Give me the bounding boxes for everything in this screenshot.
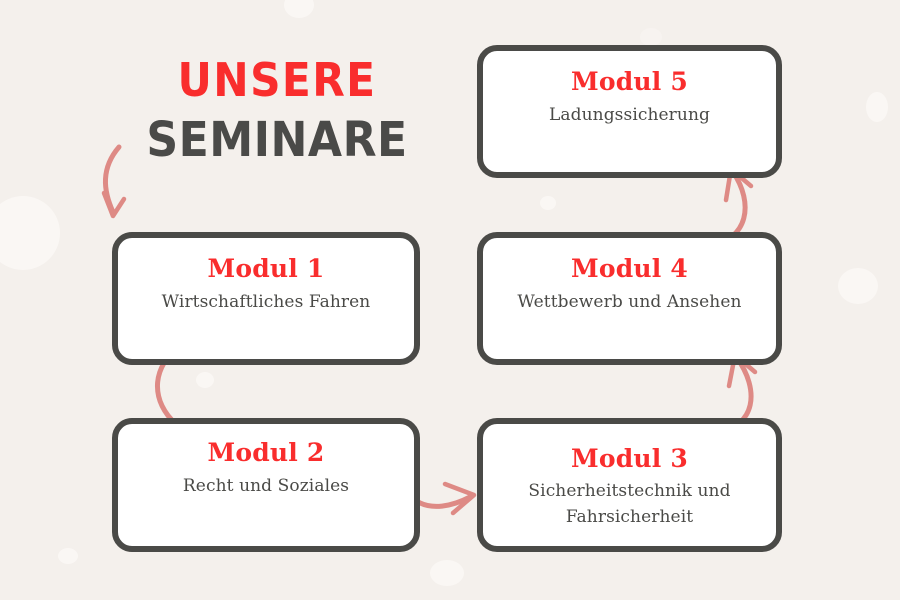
page-title-line-1: UNSERE	[125, 50, 429, 110]
module-card-modul-1[interactable]: Modul 1 Wirtschaftliches Fahren	[112, 232, 420, 365]
background-blotch	[866, 92, 888, 122]
module-title: Modul 5	[483, 67, 776, 97]
module-subtitle-line-1: Sicherheitstechnik und	[497, 478, 762, 504]
module-card-modul-2[interactable]: Modul 2 Recht und Soziales	[112, 418, 420, 552]
module-subtitle: Wirtschaftliches Fahren	[118, 290, 414, 315]
module-title: Modul 4	[483, 254, 776, 284]
module-title: Modul 2	[118, 438, 414, 468]
background-blotch	[58, 548, 78, 564]
background-blotch	[196, 372, 214, 388]
module-subtitle-line-2: Fahrsicherheit	[497, 504, 762, 530]
background-blotch	[430, 560, 464, 586]
module-title: Modul 3	[483, 444, 776, 474]
module-card-modul-3[interactable]: Modul 3 Sicherheitstechnik und Fahrsiche…	[477, 418, 782, 552]
module-title: Modul 1	[118, 254, 414, 284]
background-blotch	[0, 196, 60, 270]
background-blotch	[540, 196, 556, 210]
module-card-modul-5[interactable]: Modul 5 Ladungssicherung	[477, 45, 782, 178]
infographic-canvas: UNSERE SEMINARE	[0, 0, 900, 600]
module-subtitle: Recht und Soziales	[118, 474, 414, 499]
module-subtitle: Wettbewerb und Ansehen	[483, 290, 776, 315]
background-blotch	[284, 0, 314, 18]
module-card-modul-4[interactable]: Modul 4 Wettbewerb und Ansehen	[477, 232, 782, 365]
background-blotch	[838, 268, 878, 304]
background-blotch	[640, 28, 662, 46]
page-title: UNSERE SEMINARE	[112, 50, 442, 170]
module-subtitle: Sicherheitstechnik und Fahrsicherheit	[483, 478, 776, 530]
module-subtitle: Ladungssicherung	[483, 103, 776, 128]
page-title-line-2: SEMINARE	[125, 110, 429, 170]
